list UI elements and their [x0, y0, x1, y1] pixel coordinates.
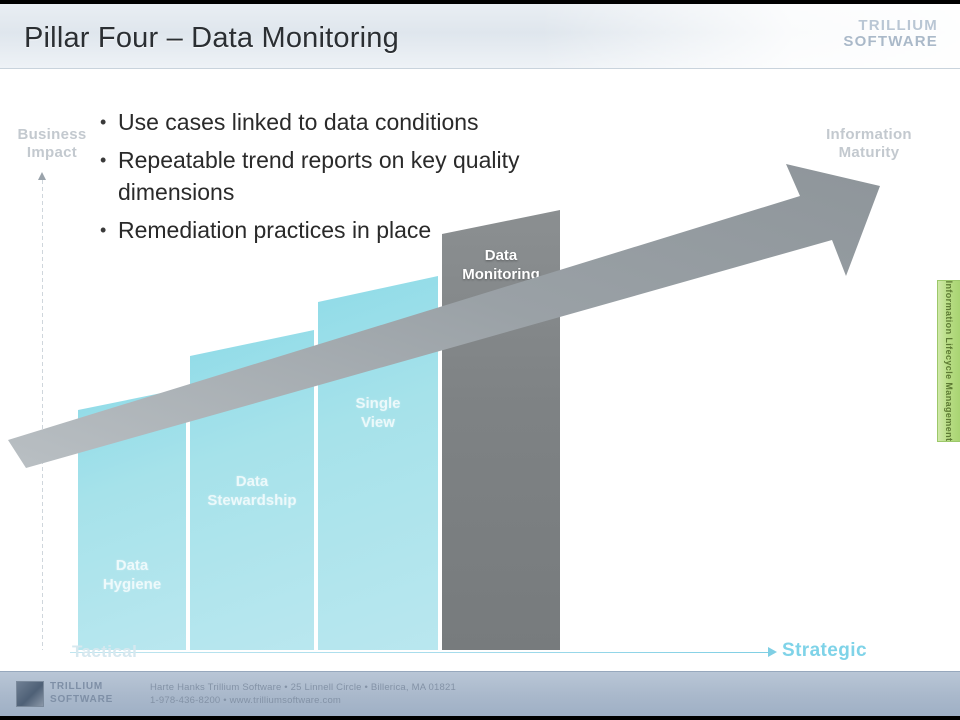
slide-title-band: Pillar Four – Data Monitoring TRILLIUM S…: [0, 4, 960, 69]
slide-footer: TRILLIUM SOFTWARE Harte Hanks Trillium S…: [0, 671, 960, 716]
bar-label-line1: Data: [78, 556, 186, 575]
footer-brand: TRILLIUM SOFTWARE: [50, 680, 113, 706]
letterbox-bottom: [0, 716, 960, 720]
letterbox-top: [0, 0, 960, 4]
maturity-bar-chart: Data Hygiene Data Stewardship Single Vie…: [0, 68, 960, 668]
bar-label: Data Hygiene: [78, 556, 186, 594]
bar-label-line1: Data: [442, 246, 560, 265]
side-tab-label: Information Lifecycle Management: [944, 281, 954, 442]
footer-address-line1: Harte Hanks Trillium Software • 25 Linne…: [150, 681, 456, 694]
footer-brand-line2: SOFTWARE: [50, 693, 113, 706]
footer-address: Harte Hanks Trillium Software • 25 Linne…: [150, 681, 456, 707]
bar-single-view: Single View: [318, 276, 438, 650]
bar-label: Single View: [318, 394, 438, 432]
slide-canvas: Pillar Four – Data Monitoring TRILLIUM S…: [0, 0, 960, 720]
bar-label-line2: Monitoring: [442, 265, 560, 284]
x-axis-line: [70, 652, 770, 653]
bar-label-line1: Single: [318, 394, 438, 413]
brand-logo-line1: TRILLIUM: [843, 18, 938, 34]
bar-data-monitoring: Data Monitoring: [442, 210, 560, 650]
bar-data-hygiene: Data Hygiene: [78, 388, 186, 650]
bar-label-line2: View: [318, 413, 438, 432]
bar-label-line2: Hygiene: [78, 575, 186, 594]
brand-logo: TRILLIUM SOFTWARE: [843, 18, 938, 50]
footer-logo-icon: [16, 681, 44, 707]
slide-body: • Use cases linked to data conditions • …: [0, 68, 960, 668]
footer-address-line2: 1-978-436-8200 • www.trilliumsoftware.co…: [150, 694, 456, 707]
bar-label-line1: Data: [190, 472, 314, 491]
x-axis-label-left: Tactical: [72, 642, 137, 662]
footer-brand-line1: TRILLIUM: [50, 680, 113, 693]
page-title: Pillar Four – Data Monitoring: [24, 22, 399, 55]
bar-label: Data Stewardship: [190, 472, 314, 510]
x-axis-arrow-icon: [768, 647, 777, 657]
side-tab[interactable]: Information Lifecycle Management: [937, 280, 960, 442]
bar-label: Data Monitoring: [442, 246, 560, 284]
bar-label-line2: Stewardship: [190, 491, 314, 510]
x-axis-label-right: Strategic: [782, 640, 867, 662]
bar-data-stewardship: Data Stewardship: [190, 330, 314, 650]
brand-logo-line2: SOFTWARE: [843, 34, 938, 50]
